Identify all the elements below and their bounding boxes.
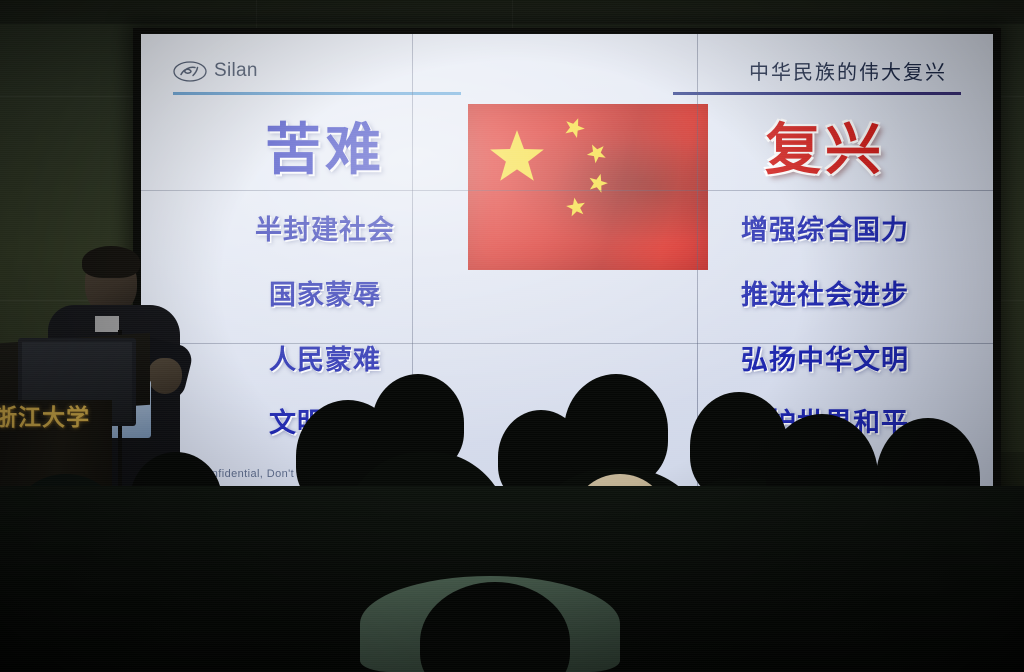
flag-small-star-icon bbox=[584, 169, 611, 196]
china-flag-image bbox=[468, 104, 708, 270]
right-column-heading: 复兴 bbox=[675, 122, 975, 181]
flag-small-star-icon bbox=[581, 137, 612, 168]
presentation-room-photo: Silan 中华民族的伟大复兴 bbox=[0, 0, 1024, 672]
audience-foreground bbox=[0, 382, 1024, 672]
presenter-badge bbox=[95, 316, 119, 332]
flag-small-star-icon bbox=[560, 113, 590, 143]
presenter-hair bbox=[82, 246, 140, 278]
slide-header-title: 中华民族的伟大复兴 bbox=[749, 56, 947, 85]
flag-large-star-icon bbox=[486, 126, 548, 188]
right-column-item: 推进社会进步 bbox=[675, 282, 975, 309]
videowall-seam bbox=[141, 343, 993, 344]
right-column-item: 增强综合国力 bbox=[675, 217, 975, 244]
flag-small-star-icon bbox=[563, 194, 588, 219]
videowall-seam bbox=[141, 190, 993, 191]
header-rule-right bbox=[673, 92, 961, 95]
slide-header: Silan 中华民族的伟大复兴 bbox=[141, 34, 993, 98]
right-column-item: 弘扬中华文明 bbox=[675, 347, 975, 374]
